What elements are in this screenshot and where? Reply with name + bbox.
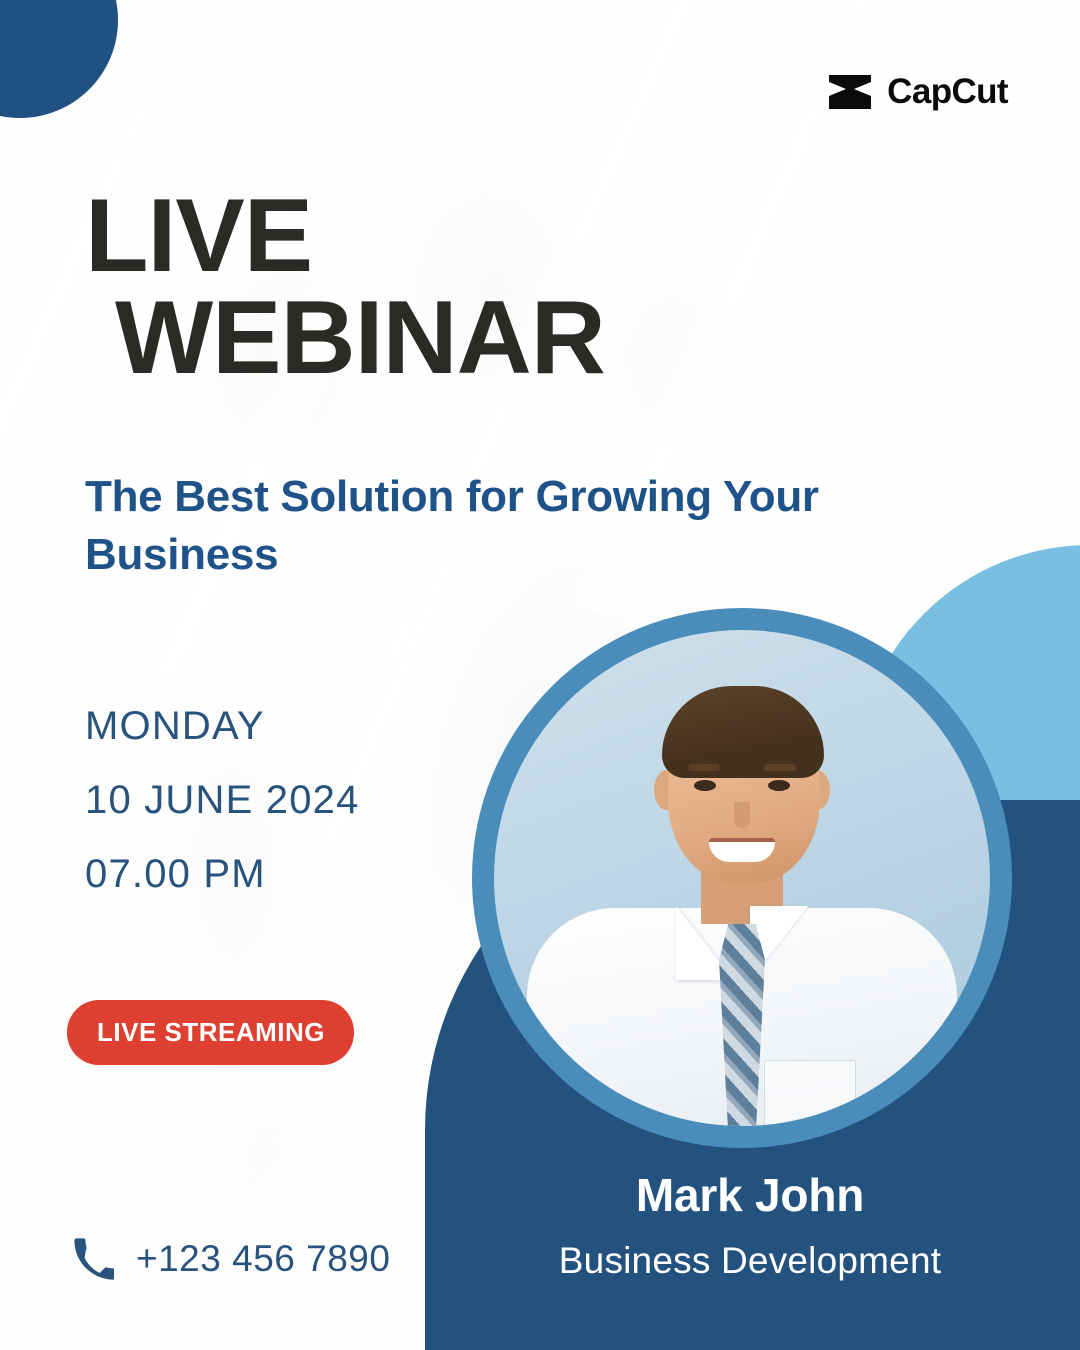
headline-line-1: LIVE — [85, 178, 312, 294]
contact-phone[interactable]: +123 456 7890 — [72, 1238, 390, 1280]
speaker-avatar-ring — [472, 608, 1012, 1148]
speaker-name: Mark John — [470, 1168, 1030, 1222]
speaker-role: Business Development — [470, 1240, 1030, 1282]
portrait-nose — [734, 802, 750, 828]
capcut-bowtie-icon — [827, 73, 873, 111]
capcut-logo: CapCut — [827, 72, 1008, 112]
live-streaming-badge[interactable]: LIVE STREAMING — [67, 1000, 354, 1065]
portrait-eye — [694, 780, 716, 791]
speaker-info: Mark John Business Development — [470, 1168, 1030, 1282]
portrait-hair — [662, 686, 824, 778]
headline-line-2: WEBINAR — [115, 288, 605, 390]
event-schedule: MONDAY 10 JUNE 2024 07.00 PM — [85, 706, 360, 894]
portrait-eye — [768, 780, 790, 791]
poster-canvas: CapCut LIVE WEBINAR The Best Solution fo… — [0, 0, 1080, 1350]
subtitle: The Best Solution for Growing Your Busin… — [85, 468, 885, 584]
portrait-eyebrow — [688, 764, 720, 771]
portrait-shirt-pocket — [764, 1060, 856, 1126]
page-title: LIVE WEBINAR — [85, 186, 605, 390]
event-time: 07.00 PM — [85, 854, 360, 894]
phone-icon — [72, 1238, 114, 1280]
portrait-smile — [709, 838, 775, 862]
avatar — [494, 630, 990, 1126]
phone-number: +123 456 7890 — [136, 1238, 390, 1280]
event-day: MONDAY — [85, 706, 360, 746]
event-date: 10 JUNE 2024 — [85, 780, 360, 820]
portrait-eyebrow — [764, 764, 796, 771]
capcut-wordmark: CapCut — [887, 72, 1008, 112]
